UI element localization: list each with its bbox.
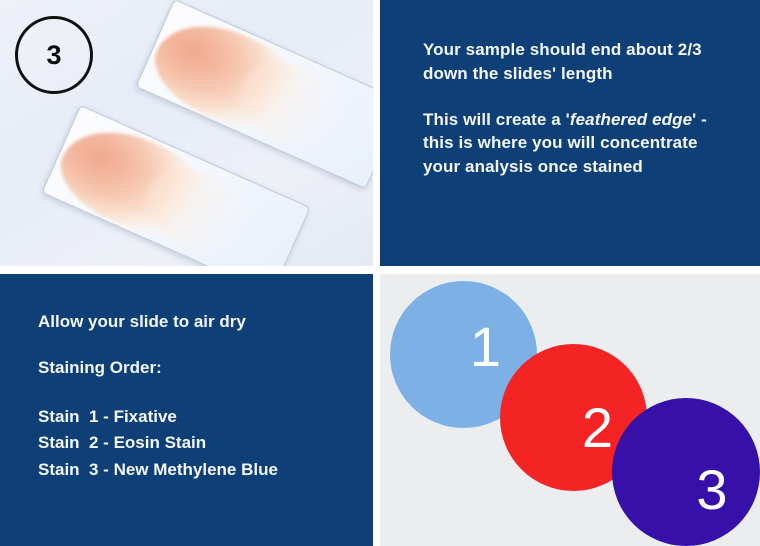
note-paragraph-sample-length: Your sample should end about 2/3 down th…	[423, 38, 734, 86]
sample-placement-note-panel: Your sample should end about 2/3 down th…	[380, 0, 760, 266]
stain-step-circle-3-label: 3	[696, 462, 727, 518]
air-dry-heading: Allow your slide to air dry	[38, 312, 347, 332]
stain-step-circle-1-label: 1	[470, 319, 501, 375]
stain-sequence-panel: 1 2 3	[380, 274, 760, 546]
stain-sequence-diagram: 1 2 3	[380, 274, 760, 546]
stain-step-circle-3: 3	[612, 398, 760, 546]
note-text-sample-length: Your sample should end about 2/3 down th…	[423, 40, 702, 83]
slide-preparation-infographic: 3 Your sample should end about 2/3 down …	[0, 0, 760, 546]
stain-list-item: Stain 2 - Eosin Stain	[38, 430, 347, 456]
step-number-badge: 3	[15, 16, 93, 94]
slide-photo-panel: 3	[0, 0, 373, 266]
stain-list-item: Stain 1 - Fixative	[38, 404, 347, 430]
staining-order-heading: Staining Order:	[38, 358, 347, 378]
stain-list-item: Stain 3 - New Methylene Blue	[38, 457, 347, 483]
note-text-feathered-edge-prefix: This will create a '	[423, 110, 570, 129]
stain-list: Stain 1 - Fixative Stain 2 - Eosin Stain…	[38, 404, 347, 483]
stain-step-circle-2-label: 2	[582, 400, 613, 456]
note-paragraph-feathered-edge: This will create a 'feathered edge' - th…	[423, 108, 734, 179]
note-text-feathered-edge-emphasis: feathered edge	[570, 110, 692, 129]
staining-order-panel: Allow your slide to air dry Staining Ord…	[0, 274, 373, 546]
step-number-badge-label: 3	[46, 42, 61, 69]
